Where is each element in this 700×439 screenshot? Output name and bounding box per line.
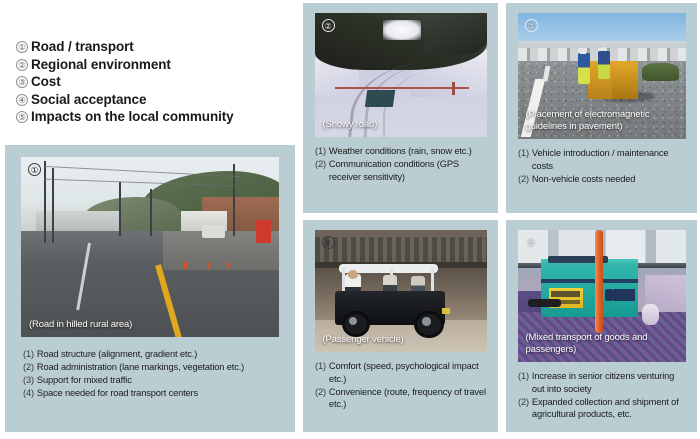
bullet-text: Weather conditions (rain, snow etc.)	[329, 145, 488, 158]
bullet-list-4: (1) Comfort (speed, psychological impact…	[303, 352, 498, 411]
bullet-number: (2)	[23, 361, 34, 374]
category-list-item-5: ⑤ Impacts on the local community	[16, 108, 286, 126]
bullet-number: (1)	[518, 147, 529, 160]
bullet-list-5: (1) Increase in senior citizens venturin…	[506, 362, 697, 421]
bullet-item: (2) Non-vehicle costs needed	[518, 173, 687, 186]
bullet-item: (1) Comfort (speed, psychological impact…	[315, 360, 488, 385]
category-label-1: Road / transport	[31, 38, 134, 56]
bullet-list-1: (1) Road structure (alignment, gradient …	[5, 337, 295, 400]
bullet-text: Comfort (speed, psychological impact etc…	[329, 360, 488, 385]
category-list: ① Road / transport ② Regional environmen…	[16, 38, 286, 126]
bullet-text: Increase in senior citizens venturing ou…	[532, 370, 687, 395]
bullet-item: (1) Weather conditions (rain, snow etc.)	[315, 145, 488, 158]
circled-number-2-icon: ②	[16, 59, 28, 71]
category-list-item-3: ③ Cost	[16, 73, 286, 91]
photo-badge-2-icon: ②	[322, 19, 335, 32]
bullet-number: (2)	[315, 386, 326, 399]
bullet-text: Space needed for road transport centers	[37, 387, 285, 400]
bullet-number: (1)	[315, 360, 326, 373]
photo-artwork	[21, 157, 279, 337]
photo-badge-1-icon: ①	[28, 163, 41, 176]
panel-cost: ③ (Placement of electromagnetic guidelin…	[506, 3, 697, 213]
category-list-item-2: ② Regional environment	[16, 56, 286, 74]
photo-caption-2: (Snowy road)	[323, 119, 479, 131]
bullet-item: (1) Vehicle introduction / maintenance c…	[518, 147, 687, 172]
photo-mixed-transport-of-goods-and-passengers: ⑤ (Mixed transport of goods and passenge…	[518, 230, 686, 362]
category-list-item-1: ① Road / transport	[16, 38, 286, 56]
bullet-item: (2) Convenience (route, frequency of tra…	[315, 386, 488, 411]
photo-caption-4: (Passenger vehicle)	[323, 334, 479, 346]
category-label-3: Cost	[31, 73, 61, 91]
bullet-text: Non-vehicle costs needed	[532, 173, 687, 186]
photo-electromagnetic-guideline-placement: ③ (Placement of electromagnetic guidelin…	[518, 13, 686, 139]
bullet-text: Road structure (alignment, gradient etc.…	[37, 348, 285, 361]
bullet-number: (2)	[518, 396, 529, 409]
circled-number-4-icon: ④	[16, 94, 28, 106]
bullet-number: (1)	[315, 145, 326, 158]
bullet-item: (3) Support for mixed traffic	[23, 374, 285, 387]
bullet-text: Road administration (lane markings, vege…	[37, 361, 285, 374]
bullet-number: (3)	[23, 374, 34, 387]
bullet-text: Expanded collection and shipment of agri…	[532, 396, 687, 421]
bullet-item: (1) Road structure (alignment, gradient …	[23, 348, 285, 361]
panel-regional-environment: ② (Snowy road) (1) Weather conditions (r…	[303, 3, 498, 213]
category-label-4: Social acceptance	[31, 91, 146, 109]
bullet-number: (2)	[518, 173, 529, 186]
photo-badge-3-icon: ③	[525, 19, 538, 32]
bullet-text: Vehicle introduction / maintenance costs	[532, 147, 687, 172]
bullet-number: (4)	[23, 387, 34, 400]
photo-badge-4-icon: ④	[322, 236, 335, 249]
panel-impacts-on-local-community: ⑤ (Mixed transport of goods and passenge…	[506, 220, 697, 432]
category-label-5: Impacts on the local community	[31, 108, 234, 126]
bullet-item: (1) Increase in senior citizens venturin…	[518, 370, 687, 395]
bullet-item: (2) Expanded collection and shipment of …	[518, 396, 687, 421]
photo-passenger-vehicle: ④ (Passenger vehicle)	[315, 230, 487, 352]
bullet-number: (1)	[23, 348, 34, 361]
bullet-text: Support for mixed traffic	[37, 374, 285, 387]
photo-caption-3: (Placement of electromagnetic guidelines…	[526, 109, 678, 133]
photo-road-in-hilled-rural-area: ① (Road in hilled rural area)	[21, 157, 279, 337]
photo-caption-5: (Mixed transport of goods and passengers…	[526, 332, 678, 356]
photo-caption-1: (Road in hilled rural area)	[29, 319, 271, 331]
bullet-list-2: (1) Weather conditions (rain, snow etc.)…	[303, 137, 498, 183]
circled-number-3-icon: ③	[16, 76, 28, 88]
bullet-item: (2) Road administration (lane markings, …	[23, 361, 285, 374]
bullet-number: (2)	[315, 158, 326, 171]
panel-road-transport: ① (Road in hilled rural area) (1) Road s…	[5, 145, 295, 432]
category-list-item-4: ④ Social acceptance	[16, 91, 286, 109]
category-label-2: Regional environment	[31, 56, 171, 74]
bullet-text: Convenience (route, frequency of travel …	[329, 386, 488, 411]
bullet-number: (1)	[518, 370, 529, 383]
photo-badge-5-icon: ⑤	[525, 236, 538, 249]
photo-snowy-road: ② (Snowy road)	[315, 13, 487, 137]
circled-number-1-icon: ①	[16, 41, 28, 53]
bullet-item: (2) Communication conditions (GPS receiv…	[315, 158, 488, 183]
bullet-list-3: (1) Vehicle introduction / maintenance c…	[506, 139, 697, 185]
bullet-text: Communication conditions (GPS receiver s…	[329, 158, 488, 183]
circled-number-5-icon: ⑤	[16, 111, 28, 123]
bullet-item: (4) Space needed for road transport cent…	[23, 387, 285, 400]
panel-social-acceptance: ④ (Passenger vehicle) (1) Comfort (speed…	[303, 220, 498, 432]
